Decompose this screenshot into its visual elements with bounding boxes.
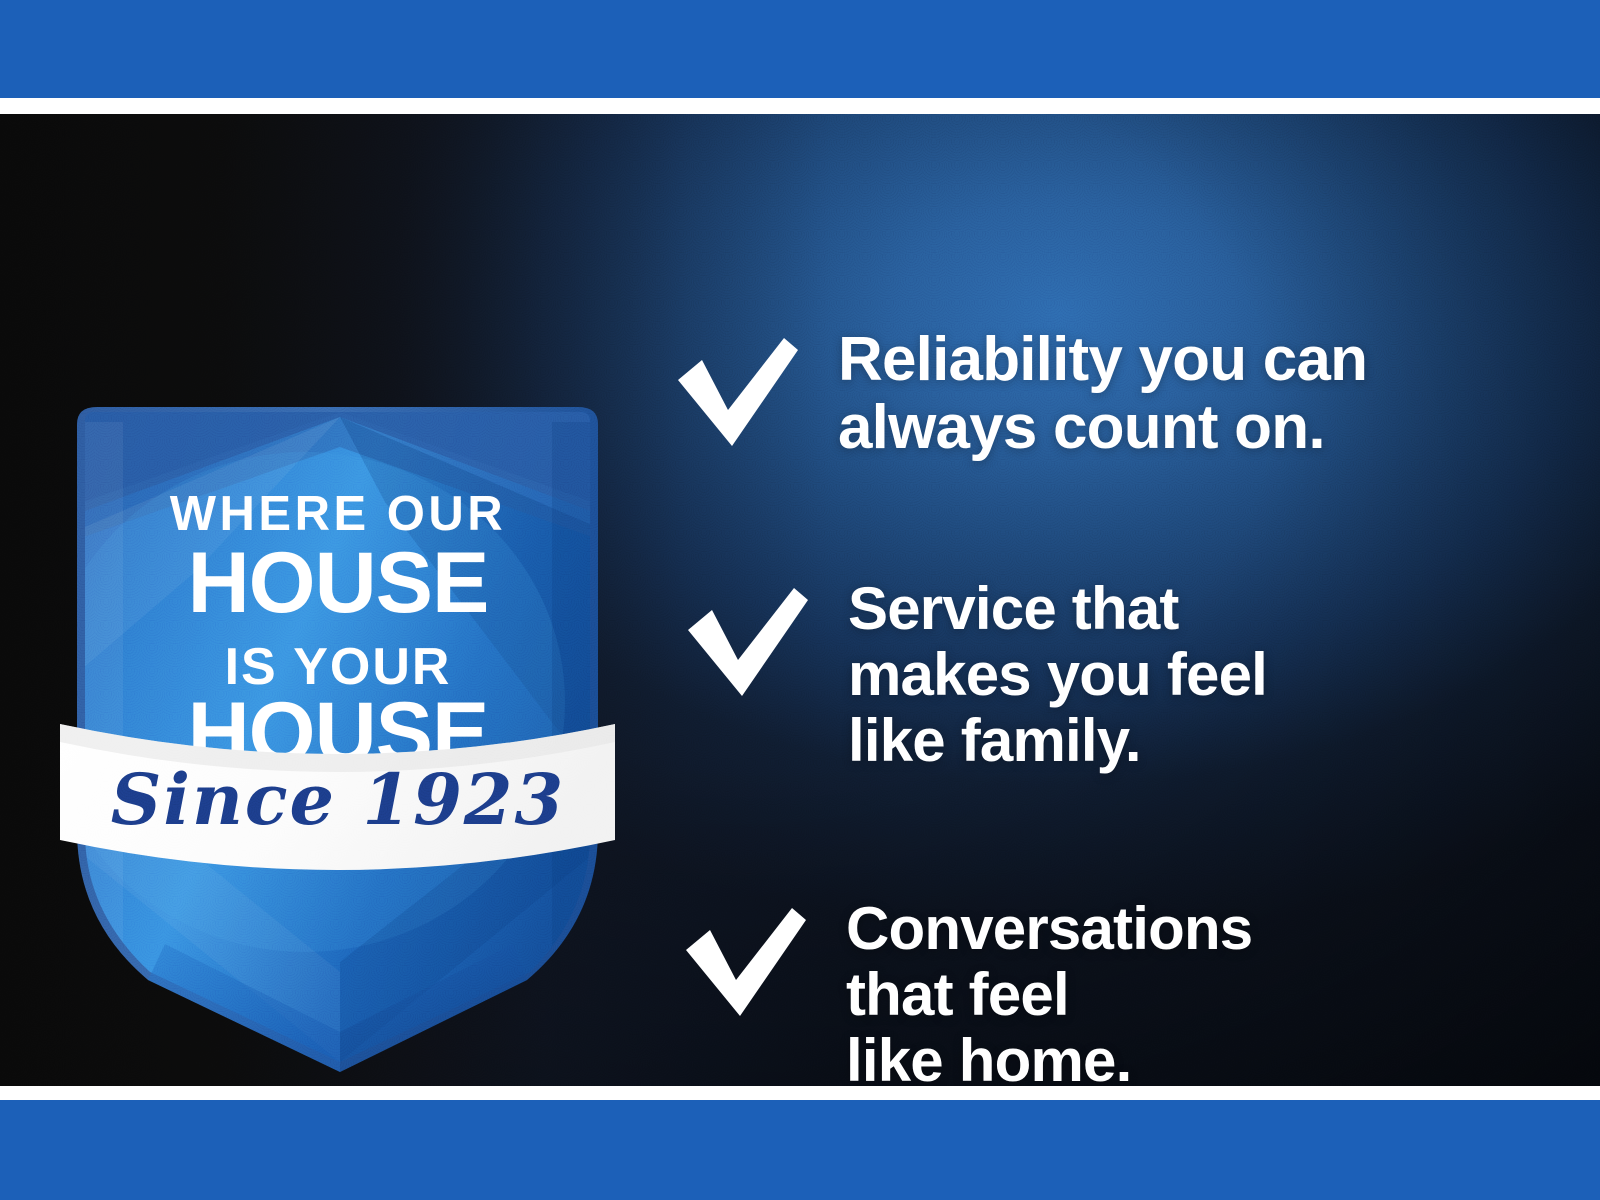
- check-mark-icon: [672, 336, 800, 454]
- benefit-item-2: Service that makes you feel like family.: [682, 576, 1267, 774]
- benefit-text-2: Service that makes you feel like family.: [848, 576, 1267, 774]
- check-mark-icon: [680, 906, 808, 1024]
- shield-line-2: HOUSE: [188, 535, 489, 631]
- bottom-brand-bar: [0, 1100, 1600, 1200]
- benefits-list: Reliability you can always count on. Ser…: [672, 304, 1532, 1086]
- top-brand-bar: [0, 0, 1600, 98]
- benefit-text-3: Conversations that feel like home.: [846, 896, 1252, 1086]
- benefit-text-1: Reliability you can always count on.: [838, 326, 1367, 462]
- check-mark-icon: [682, 586, 810, 704]
- since-ribbon-text: Since 1923: [111, 758, 565, 841]
- benefit-item-1: Reliability you can always count on.: [672, 326, 1367, 462]
- shield-emblem: WHERE OUR HOUSE IS YOUR HOUSE Since 1923: [55, 272, 620, 1062]
- shield-line-1: WHERE OUR: [170, 487, 506, 541]
- benefit-item-3: Conversations that feel like home.: [680, 896, 1252, 1086]
- main-panel: WHERE OUR HOUSE IS YOUR HOUSE Since 1923: [0, 114, 1600, 1086]
- promo-poster: WHERE OUR HOUSE IS YOUR HOUSE Since 1923: [0, 0, 1600, 1200]
- top-white-divider: [0, 98, 1600, 114]
